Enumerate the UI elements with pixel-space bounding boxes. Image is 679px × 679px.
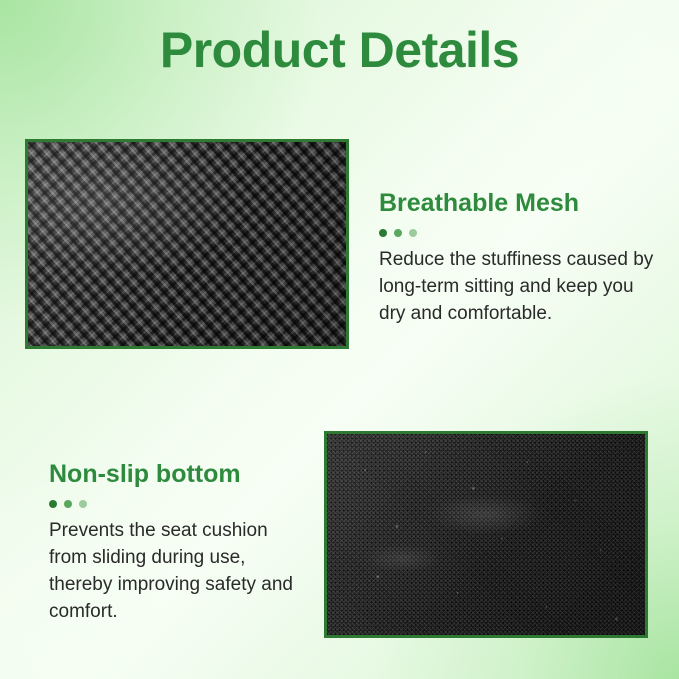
dot-icon-2	[394, 229, 402, 237]
feature-breathable-mesh: Breathable Mesh Reduce the stuffiness ca…	[379, 189, 657, 328]
feature-body-non-slip-bottom: Prevents the seat cushion from sliding d…	[49, 518, 301, 626]
non-slip-sheen-layer	[327, 434, 645, 635]
dot-separator-non-slip-bottom	[49, 500, 301, 508]
mesh-sheen-layer	[28, 142, 346, 346]
non-slip-bottom-photo	[324, 431, 648, 638]
breathable-mesh-photo	[25, 139, 349, 349]
dot-icon-2	[64, 500, 72, 508]
dot-separator-breathable-mesh	[379, 229, 657, 237]
page-title: Product Details	[0, 23, 679, 78]
product-details-poster: Product Details Breathable Mesh Reduce t…	[0, 0, 679, 679]
dot-icon-1	[49, 500, 57, 508]
feature-non-slip-bottom: Non-slip bottom Prevents the seat cushio…	[49, 460, 301, 626]
feature-heading-breathable-mesh: Breathable Mesh	[379, 189, 657, 218]
dot-icon-3	[409, 229, 417, 237]
dot-icon-3	[79, 500, 87, 508]
feature-body-breathable-mesh: Reduce the stuffiness caused by long-ter…	[379, 247, 657, 328]
dot-icon-1	[379, 229, 387, 237]
feature-heading-non-slip-bottom: Non-slip bottom	[49, 460, 301, 489]
